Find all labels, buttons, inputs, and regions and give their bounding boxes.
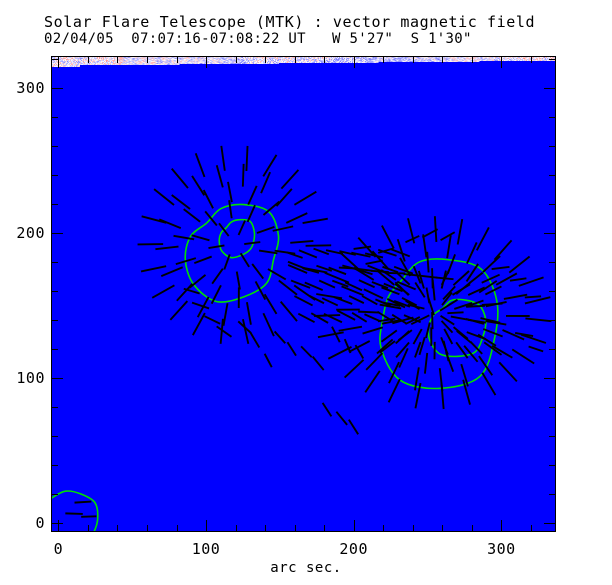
field-vector [152, 285, 174, 297]
field-vector [194, 257, 211, 264]
field-vector [366, 353, 382, 370]
x-minor-tick-top [117, 57, 118, 63]
x-major-tick [354, 520, 355, 531]
y-minor-tick-right [549, 117, 555, 118]
y-minor-tick [52, 59, 58, 60]
y-major-tick [52, 523, 63, 524]
field-vector [192, 303, 209, 309]
field-vector [525, 318, 551, 321]
y-major-tick-right [544, 378, 555, 379]
y-minor-tick [52, 117, 58, 118]
field-vector [184, 209, 200, 222]
field-vector [142, 216, 167, 222]
field-vector [318, 332, 344, 337]
field-vector [257, 227, 274, 233]
field-vector [247, 302, 251, 325]
field-vector [479, 356, 492, 375]
field-vector [172, 195, 190, 209]
figure-subtitle: 02/04/05 07:07:16-07:08:22 UT W 5'27" S … [44, 31, 604, 48]
field-vector [75, 502, 92, 503]
field-vector [316, 294, 342, 298]
x-minor-tick [472, 525, 473, 531]
x-minor-tick-top [324, 57, 325, 63]
field-vector [205, 211, 217, 225]
field-vector [492, 346, 512, 358]
x-minor-tick [88, 525, 89, 531]
y-minor-tick-right [549, 146, 555, 147]
field-vector [299, 250, 317, 257]
field-vector [444, 341, 449, 361]
field-vector [415, 342, 421, 357]
x-minor-tick-top [472, 57, 473, 63]
field-vector [366, 261, 383, 264]
field-vector [389, 379, 400, 402]
x-minor-tick [531, 525, 532, 531]
field-vector [81, 516, 96, 517]
y-major-tick [52, 233, 63, 234]
field-vector [290, 241, 313, 243]
plot-area [51, 56, 556, 532]
x-minor-tick-top [442, 57, 443, 63]
field-vector [237, 272, 240, 290]
y-minor-tick [52, 349, 58, 350]
field-vector [377, 339, 393, 353]
field-vector [172, 169, 188, 188]
field-vector [239, 221, 245, 236]
field-vector [447, 312, 463, 313]
x-minor-tick [295, 525, 296, 531]
figure-header: Solar Flare Telescope (MTK) : vector mag… [44, 14, 604, 48]
y-minor-tick [52, 291, 58, 292]
field-vector [248, 186, 256, 205]
field-vector [298, 314, 314, 322]
field-vector [453, 271, 469, 285]
x-major-tick [206, 520, 207, 531]
field-vector [482, 304, 503, 305]
field-vector [419, 337, 424, 355]
field-vector [261, 172, 270, 193]
field-vector [427, 252, 428, 273]
field-vector [294, 192, 316, 205]
field-vector [170, 301, 187, 320]
field-vector [362, 296, 377, 305]
y-tick-label: 0 [3, 514, 45, 532]
x-minor-tick-top [531, 57, 532, 63]
y-major-tick-right [544, 233, 555, 234]
x-major-tick-top [501, 57, 502, 68]
field-vector [454, 327, 468, 339]
y-minor-tick [52, 204, 58, 205]
field-vector [447, 235, 451, 258]
field-vector [382, 226, 394, 249]
y-tick-label: 100 [3, 369, 45, 387]
x-major-tick [58, 520, 59, 531]
y-major-tick [52, 378, 63, 379]
y-minor-tick [52, 146, 58, 147]
field-vector [204, 190, 213, 208]
field-vector [268, 269, 286, 279]
field-vector [441, 383, 443, 409]
field-vector [273, 226, 293, 230]
field-vector [504, 295, 527, 299]
y-minor-tick-right [549, 407, 555, 408]
y-minor-tick [52, 262, 58, 263]
field-vector [456, 342, 467, 358]
field-vector [241, 253, 249, 267]
field-vector [477, 227, 489, 250]
y-minor-tick-right [549, 291, 555, 292]
field-vector [286, 213, 307, 223]
field-vector [204, 316, 220, 324]
y-major-tick-right [544, 523, 555, 524]
x-minor-tick [236, 525, 237, 531]
field-vector [176, 258, 196, 264]
field-vector [342, 286, 364, 295]
x-tick-label: 200 [339, 540, 368, 558]
y-minor-tick-right [549, 320, 555, 321]
x-minor-tick [413, 525, 414, 531]
field-vector [263, 202, 279, 215]
field-vector [212, 269, 223, 284]
field-vector [229, 200, 232, 218]
x-tick-label: 0 [54, 540, 64, 558]
field-vector [217, 326, 232, 336]
field-vector [433, 280, 435, 301]
y-tick-label: 300 [3, 79, 45, 97]
field-vector [256, 281, 266, 299]
field-vector [420, 276, 438, 278]
field-vector [512, 349, 534, 363]
field-vector [415, 367, 419, 390]
field-vector [336, 412, 347, 425]
field-vector [309, 296, 324, 303]
x-major-tick [501, 520, 502, 531]
field-vector [467, 332, 486, 339]
field-vector [219, 223, 229, 236]
field-vector [281, 302, 297, 321]
x-minor-tick-top [383, 57, 384, 63]
x-minor-tick-top [88, 57, 89, 63]
x-axis-title: arc sec. [0, 560, 612, 576]
y-minor-tick-right [549, 436, 555, 437]
y-minor-tick-right [549, 494, 555, 495]
field-vector [398, 330, 411, 340]
field-vector [228, 182, 232, 202]
field-vector [275, 251, 296, 254]
field-vector [482, 373, 495, 395]
field-vector [294, 296, 312, 305]
figure-title: Solar Flare Telescope (MTK) : vector mag… [44, 14, 604, 31]
field-vector [277, 189, 292, 206]
field-vector [192, 176, 204, 195]
field-vector [525, 296, 541, 297]
field-vector [313, 357, 324, 370]
field-vector [265, 294, 277, 314]
field-vector [189, 275, 205, 288]
field-vector [483, 256, 500, 272]
field-vector [221, 146, 224, 171]
x-major-tick-top [206, 57, 207, 68]
field-vector [155, 247, 178, 250]
field-vector [372, 251, 388, 269]
y-minor-tick [52, 436, 58, 437]
field-vector [287, 342, 296, 355]
x-minor-tick [117, 525, 118, 531]
field-vector [499, 362, 517, 381]
y-minor-tick [52, 320, 58, 321]
field-vector [425, 353, 427, 374]
field-vector [339, 327, 362, 331]
field-vector [174, 236, 195, 239]
field-vector [246, 146, 247, 171]
field-vector [154, 189, 174, 205]
field-vector [458, 219, 463, 244]
x-minor-tick [265, 525, 266, 531]
x-minor-tick-top [413, 57, 414, 63]
field-vector [345, 360, 364, 378]
y-minor-tick [52, 407, 58, 408]
field-vector [303, 219, 328, 223]
field-vector [404, 274, 422, 276]
field-vector [467, 242, 477, 263]
field-vector [212, 285, 221, 303]
y-minor-tick-right [549, 175, 555, 176]
y-major-tick [52, 88, 63, 89]
field-vector [494, 240, 511, 259]
field-vector [492, 267, 510, 269]
field-vector [389, 362, 399, 383]
field-vector [243, 319, 248, 344]
x-minor-tick-top [236, 57, 237, 63]
field-vector [509, 256, 529, 272]
field-vector [363, 327, 383, 333]
field-vector [510, 278, 526, 280]
field-vector [322, 298, 338, 305]
field-vector [413, 329, 421, 344]
field-vector [224, 254, 229, 269]
field-vector [441, 232, 455, 240]
magnetogram-figure: Solar Flare Telescope (MTK) : vector mag… [0, 0, 612, 585]
x-minor-tick [324, 525, 325, 531]
field-vector [244, 242, 260, 244]
field-vector [252, 264, 263, 279]
y-tick-label: 200 [3, 224, 45, 242]
field-vector [248, 205, 255, 222]
y-minor-tick [52, 175, 58, 176]
x-minor-tick-top [177, 57, 178, 63]
field-vector [365, 371, 380, 392]
y-minor-tick [52, 494, 58, 495]
y-minor-tick-right [549, 262, 555, 263]
y-minor-tick-right [549, 204, 555, 205]
x-minor-tick [147, 525, 148, 531]
x-tick-label: 100 [192, 540, 221, 558]
field-vector [483, 329, 502, 336]
field-vector [224, 303, 228, 326]
y-minor-tick-right [549, 349, 555, 350]
field-vector [275, 331, 286, 343]
x-minor-tick-top [147, 57, 148, 63]
field-vector [349, 296, 364, 303]
field-vector [301, 346, 312, 357]
vector-field-layer [52, 57, 555, 531]
field-vector [265, 354, 272, 367]
x-minor-tick [442, 525, 443, 531]
y-minor-tick [52, 465, 58, 466]
y-minor-tick-right [549, 465, 555, 466]
field-vector [470, 342, 482, 354]
field-vector [161, 267, 182, 276]
y-major-tick-right [544, 88, 555, 89]
x-minor-tick-top [295, 57, 296, 63]
x-minor-tick [383, 525, 384, 531]
field-vector [243, 164, 244, 187]
field-vector [192, 235, 210, 240]
field-vector [208, 245, 224, 248]
field-vector [358, 312, 379, 313]
field-vector [251, 333, 260, 347]
x-major-tick-top [354, 57, 355, 68]
field-vector [349, 420, 358, 435]
x-major-tick-top [58, 57, 59, 68]
y-minor-tick-right [549, 59, 555, 60]
field-vector [141, 266, 166, 271]
field-vector [323, 403, 332, 417]
x-minor-tick [177, 525, 178, 531]
field-vector [177, 284, 193, 301]
field-vector [159, 219, 181, 228]
field-vector [281, 170, 298, 189]
x-tick-label: 300 [487, 540, 516, 558]
x-minor-tick-top [265, 57, 266, 63]
field-vector [314, 315, 340, 316]
field-vector [521, 335, 546, 343]
field-vector [263, 313, 274, 336]
field-vector [196, 153, 205, 177]
field-vector [381, 330, 396, 341]
field-vector [466, 306, 485, 307]
field-vector [398, 239, 405, 261]
field-vector [364, 289, 383, 298]
field-vector [65, 513, 82, 514]
field-vector [529, 346, 544, 351]
field-vector [426, 322, 430, 337]
field-vector [453, 284, 471, 295]
field-vector [217, 165, 223, 187]
